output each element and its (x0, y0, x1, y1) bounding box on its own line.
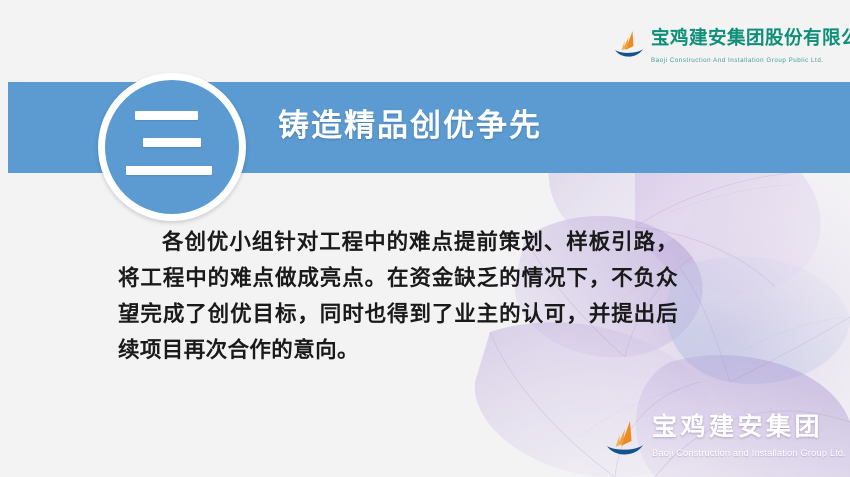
company-name-en: Baoji Construction And Installation Grou… (651, 57, 824, 64)
company-name-cn: 宝鸡建安集团 (652, 413, 823, 441)
company-logo-bottom-text: 宝鸡建安集团 Baoji Construction and Installati… (652, 412, 850, 461)
sail-boat-logo-icon (612, 28, 646, 62)
sail-boat-logo-icon (604, 418, 646, 462)
company-name-cn: 宝鸡建安集团股份有限公司 (651, 27, 850, 48)
three-bars-icon (126, 111, 218, 183)
body-paragraph: 各创优小组针对工程中的难点提前策划、样板引路，将工程中的难点做成亮点。在资金缺乏… (118, 224, 678, 368)
company-logo-top-text: 宝鸡建安集团股份有限公司 Baoji Construction And Inst… (651, 26, 850, 67)
slide-canvas: 铸造精品创优争先 各创优小组针对工程中的难点提前策划、样板引路，将工程中的难点做… (0, 0, 850, 477)
company-name-en: Baoji Construction and Installation Grou… (652, 448, 846, 458)
section-number-badge (98, 73, 246, 185)
page-title: 铸造精品创优争先 (278, 100, 542, 145)
company-logo-top: 宝鸡建安集团股份有限公司 Baoji Construction And Inst… (612, 26, 844, 72)
company-logo-bottom: 宝鸡建安集团 Baoji Construction and Installati… (604, 412, 850, 470)
